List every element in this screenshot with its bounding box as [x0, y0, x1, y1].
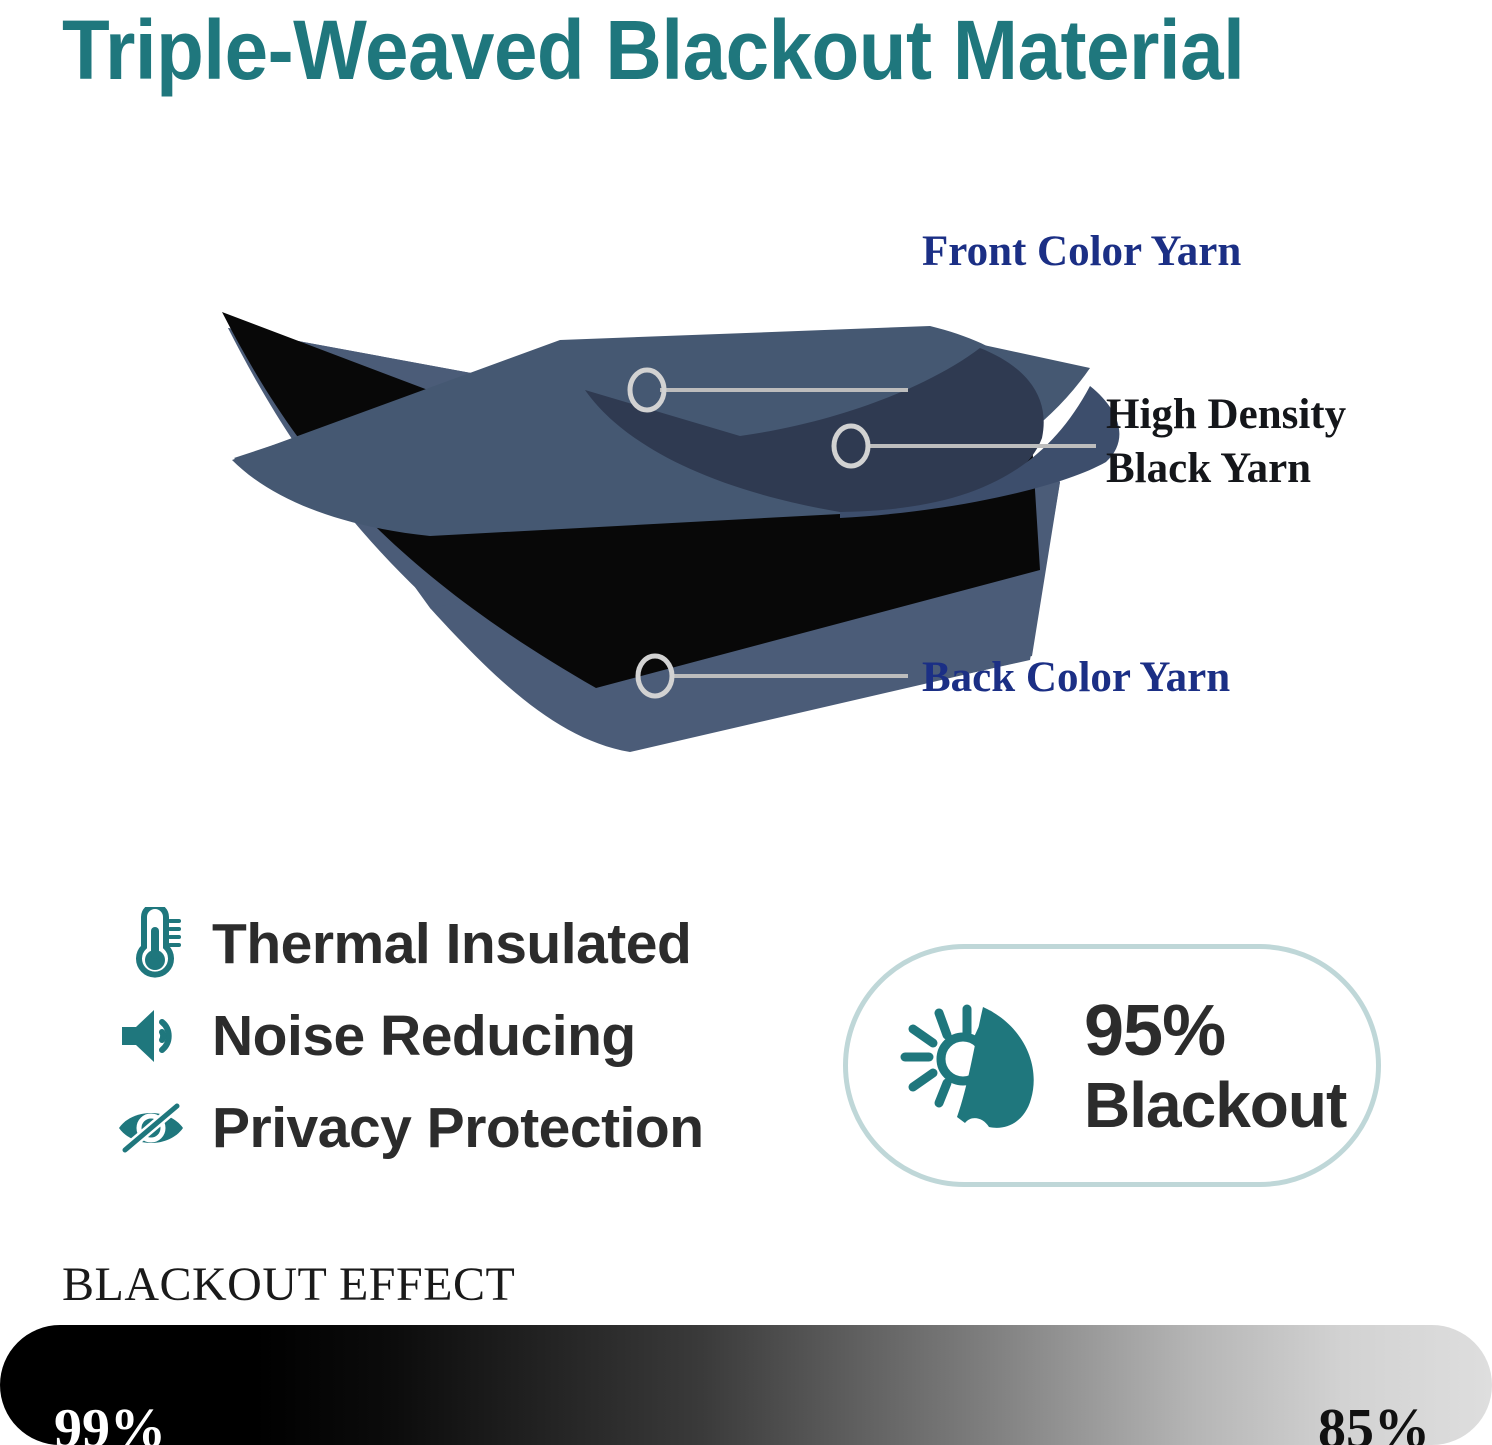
feature-row-thermal: Thermal Insulated — [112, 898, 792, 990]
eye-off-icon — [112, 1089, 190, 1167]
blackout-badge: 95% Blackout — [843, 944, 1381, 1187]
stat-light-value: 85% — [1213, 1401, 1430, 1445]
blackout-gradient-bar: 99% Darker Colors 85% Light Colors — [0, 1325, 1492, 1445]
feature-row-noise: Noise Reducing — [112, 990, 792, 1082]
feature-row-privacy: Privacy Protection — [112, 1082, 792, 1174]
speaker-icon — [112, 997, 190, 1075]
blackout-effect-heading: BLACKOUT EFFECT — [62, 1257, 515, 1312]
badge-text: 95% Blackout — [1084, 995, 1346, 1137]
stat-darker-colors: 99% Darker Colors — [54, 1401, 301, 1445]
callout-label-front: Front Color Yarn — [922, 228, 1241, 276]
title-bar: Triple-Weaved Blackout Material — [0, 0, 1492, 110]
callout-label-back: Back Color Yarn — [922, 654, 1230, 702]
feature-label-privacy: Privacy Protection — [212, 1095, 704, 1161]
page-title: Triple-Weaved Blackout Material — [62, 0, 1244, 106]
features-list: Thermal Insulated Noise Reducing Privacy… — [112, 898, 792, 1174]
stat-darker-value: 99% — [54, 1401, 301, 1445]
feature-label-noise: Noise Reducing — [212, 1003, 636, 1069]
thermometer-icon — [112, 905, 190, 983]
blackout-effect-section: BLACKOUT EFFECT 99% Darker Colors 85% Li… — [0, 1258, 1492, 1436]
badge-word: Blackout — [1084, 1073, 1346, 1137]
badge-percent: 95% — [1084, 995, 1346, 1067]
callout-label-middle: High Density Black Yarn — [1106, 388, 1436, 496]
feature-label-thermal: Thermal Insulated — [212, 911, 691, 977]
callout-middle-line2: Black Yarn — [1106, 445, 1311, 492]
sun-blocked-icon — [886, 986, 1056, 1146]
callout-middle-line1: High Density — [1106, 391, 1346, 438]
stat-light-colors: 85% Light Colors — [1213, 1401, 1430, 1445]
